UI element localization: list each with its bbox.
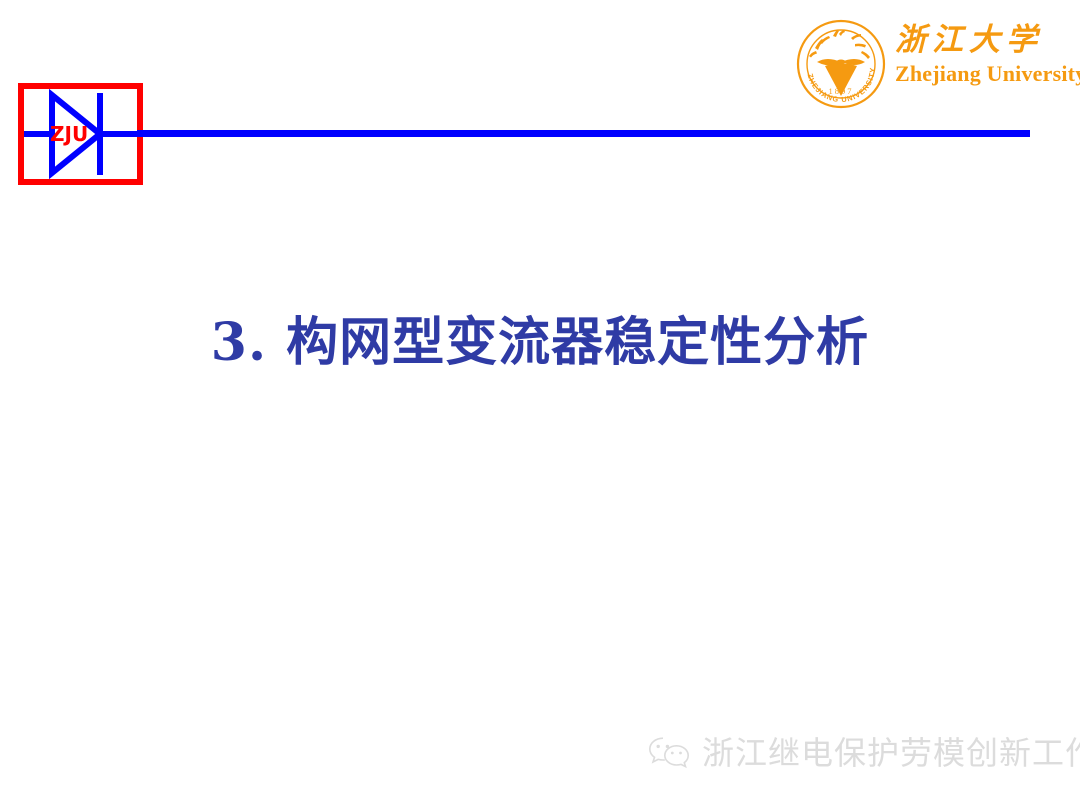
university-logo: 1897 ZHEJIANG UNIVERSITY 浙江大学 Zhejiang U…	[795, 18, 1065, 108]
footer-watermark: 浙江继电保护劳模创新工作室	[648, 735, 1080, 771]
zju-mark-label: ZJU	[50, 124, 88, 144]
university-name-en: Zhejiang University	[895, 61, 1065, 87]
university-name-cn: 浙江大学	[895, 24, 1065, 57]
wechat-icon	[648, 735, 690, 771]
slide-title: 3. 构网型变流器稳定性分析	[0, 312, 1080, 374]
zhejiang-university-emblem-icon: 1897 ZHEJIANG UNIVERSITY	[795, 18, 887, 110]
slide-canvas: ZJU 1897	[0, 0, 1080, 810]
header-rule	[137, 130, 1030, 137]
watermark-label: 浙江继电保护劳模创新工作室	[702, 737, 1080, 769]
university-name-block: 浙江大学 Zhejiang University	[895, 24, 1065, 87]
zju-diode-mark: ZJU	[18, 83, 143, 185]
